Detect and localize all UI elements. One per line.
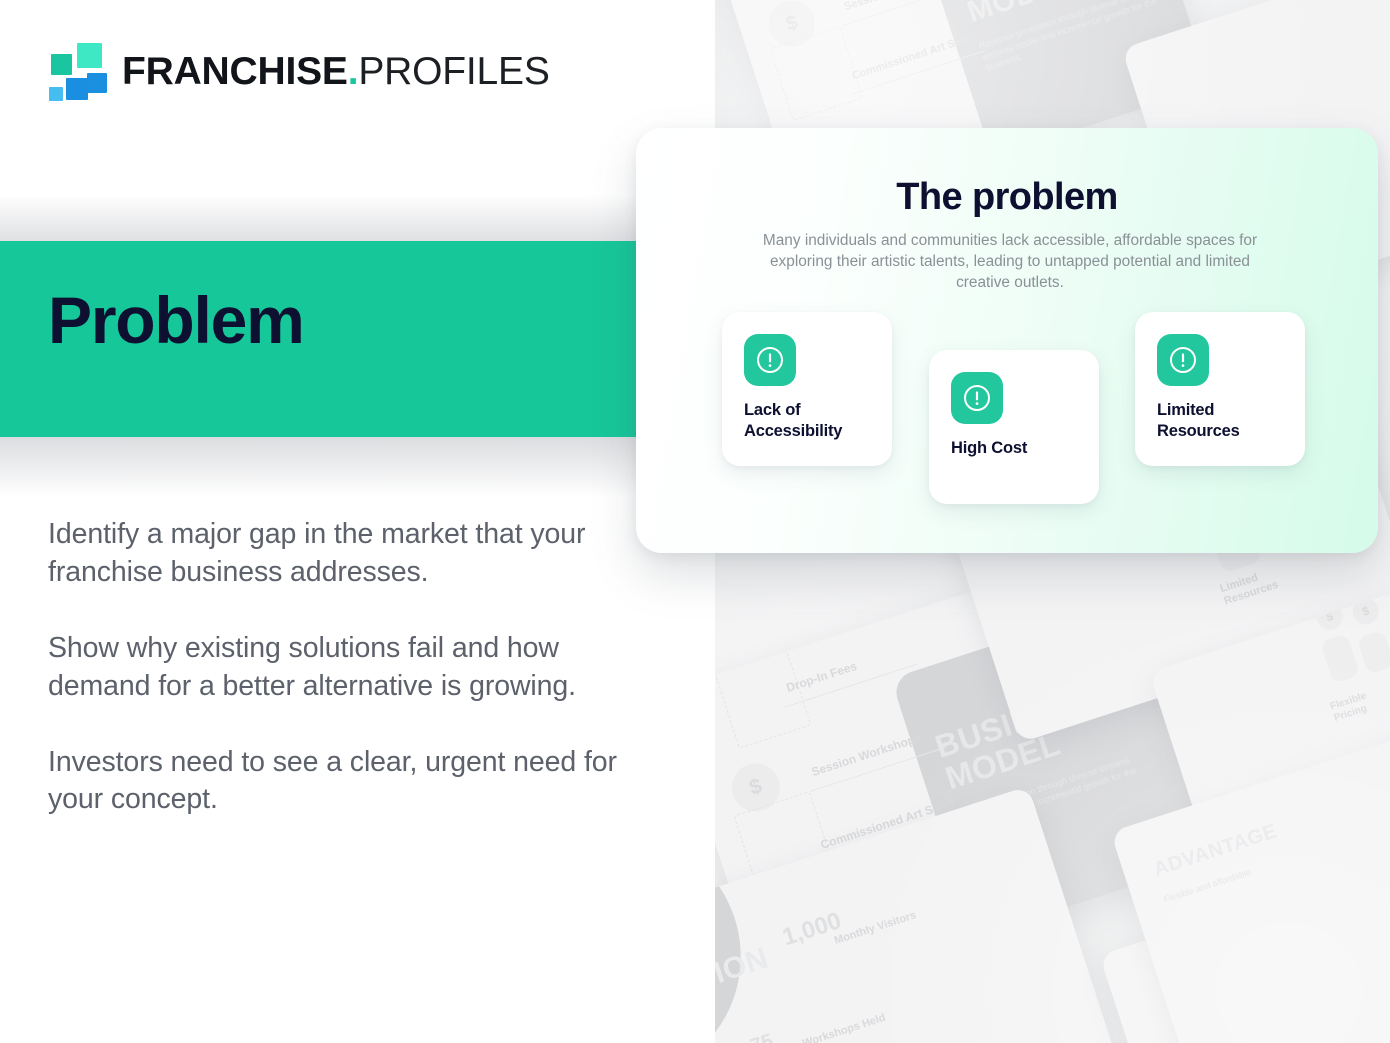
preview-subtitle: Many individuals and communities lack ac… — [762, 231, 1258, 294]
brand-word-secondary: PROFILES — [358, 50, 549, 93]
feature-card[interactable]: Lack of Accessibility — [722, 312, 892, 466]
background-slide-label: Drop-In Fees — [784, 659, 858, 695]
description-paragraph: Identify a major gap in the market that … — [48, 516, 623, 592]
section-title-band: Problem — [0, 241, 637, 437]
background-slide-number: 1,000 — [779, 907, 845, 952]
section-description: Identify a major gap in the market that … — [48, 516, 623, 819]
background-slide-label: Monthly Visitors — [833, 909, 918, 948]
preview-title: The problem — [636, 176, 1378, 219]
background-slide-number: 75 — [748, 1030, 776, 1043]
feature-label: Limited Resources — [1157, 400, 1291, 443]
feature-card[interactable]: High Cost — [929, 350, 1099, 504]
feature-card[interactable]: Limited Resources — [1135, 312, 1305, 466]
feature-label: Lack of Accessibility — [744, 400, 878, 443]
alert-circle-icon — [744, 334, 796, 386]
background-slide-label: Workshops Held — [801, 1012, 887, 1043]
brand-wordmark: FRANCHISE.PROFILES — [122, 52, 550, 91]
description-paragraph: Show why existing solutions fail and how… — [48, 630, 623, 706]
page-title: Problem — [48, 287, 304, 353]
brand-word-primary: FRANCHISE — [122, 50, 348, 93]
background-slide-label: Flexible Pricing — [1329, 691, 1372, 725]
background-slide-label: Limited Resources — [1219, 566, 1281, 608]
slide-canvas: BUSINESS MODEL Revenue generation throug… — [0, 0, 1390, 1043]
background-slide-label: Commissioned Art Sales — [850, 31, 977, 83]
brand-logo[interactable]: FRANCHISE.PROFILES — [48, 42, 550, 100]
logo-squares-icon — [48, 42, 106, 100]
brand-word-dot: . — [348, 50, 359, 93]
feature-label: High Cost — [951, 438, 1085, 459]
description-paragraph: Investors need to see a clear, urgent ne… — [48, 744, 623, 820]
alert-circle-icon — [951, 372, 1003, 424]
alert-circle-icon — [1157, 334, 1209, 386]
problem-preview-card[interactable]: The problem Many individuals and communi… — [636, 128, 1378, 553]
